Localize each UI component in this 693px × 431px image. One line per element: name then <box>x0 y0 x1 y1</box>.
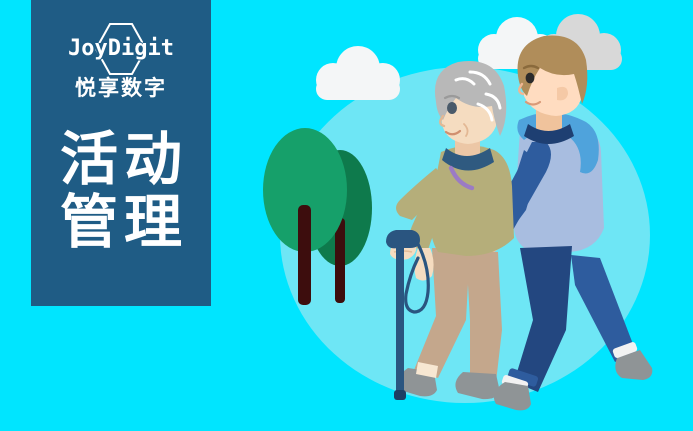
page-title: 活动 管理 <box>31 129 211 254</box>
woman-eye <box>447 102 457 114</box>
title-panel: JoyDigit 悦享数字 活动 管理 <box>31 0 211 306</box>
brand-chinese-name: 悦享数字 <box>75 78 167 99</box>
page-title-line-1: 活动 <box>31 129 211 192</box>
page-title-line-2: 管理 <box>31 192 211 255</box>
poster-canvas: JoyDigit 悦享数字 活动 管理 <box>0 0 693 431</box>
cane-tip <box>394 390 406 400</box>
man-eye <box>526 73 535 84</box>
woman-back-leg <box>466 250 502 382</box>
brand-wordmark: JoyDigit <box>68 38 174 60</box>
cane-shaft <box>396 244 404 396</box>
brand-lockup: JoyDigit <box>41 26 201 72</box>
